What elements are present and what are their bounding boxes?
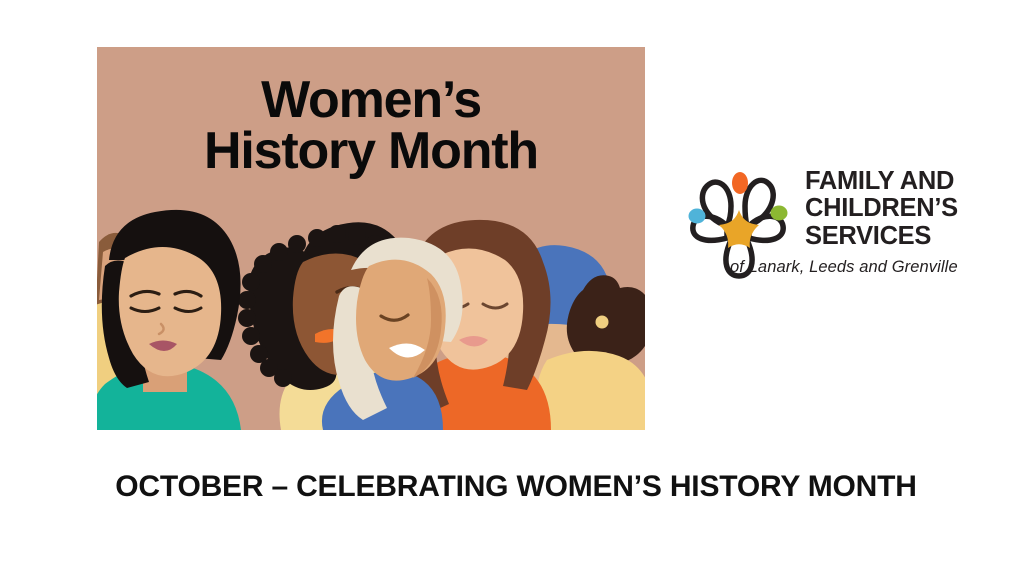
- logo-dot-blue: [689, 209, 706, 224]
- logo-line-3: SERVICES: [805, 223, 987, 250]
- earring-icon: [596, 316, 609, 329]
- figure-woman-black-bob-teal: [97, 210, 241, 430]
- logo-tagline: of Lanark, Leeds and Grenville: [730, 258, 958, 277]
- organization-logo: FAMILY AND CHILDREN’S SERVICES of Lanark…: [683, 168, 986, 283]
- logo-line-1: FAMILY AND: [805, 168, 987, 195]
- logo-dot-green: [771, 206, 788, 221]
- poster-title: Women’s History Month: [97, 75, 645, 178]
- logo-line-2: CHILDREN’S: [805, 195, 987, 222]
- womens-history-month-poster-image: Women’s History Month: [97, 47, 645, 430]
- crowd-illustration: [97, 200, 645, 430]
- crowd-illustration-svg: [97, 200, 645, 430]
- logo-dot-orange: [732, 172, 748, 194]
- logo-wordmark: FAMILY AND CHILDREN’S SERVICES: [805, 168, 987, 250]
- slide-caption: OCTOBER – CELEBRATING WOMEN’S HISTORY MO…: [98, 470, 934, 504]
